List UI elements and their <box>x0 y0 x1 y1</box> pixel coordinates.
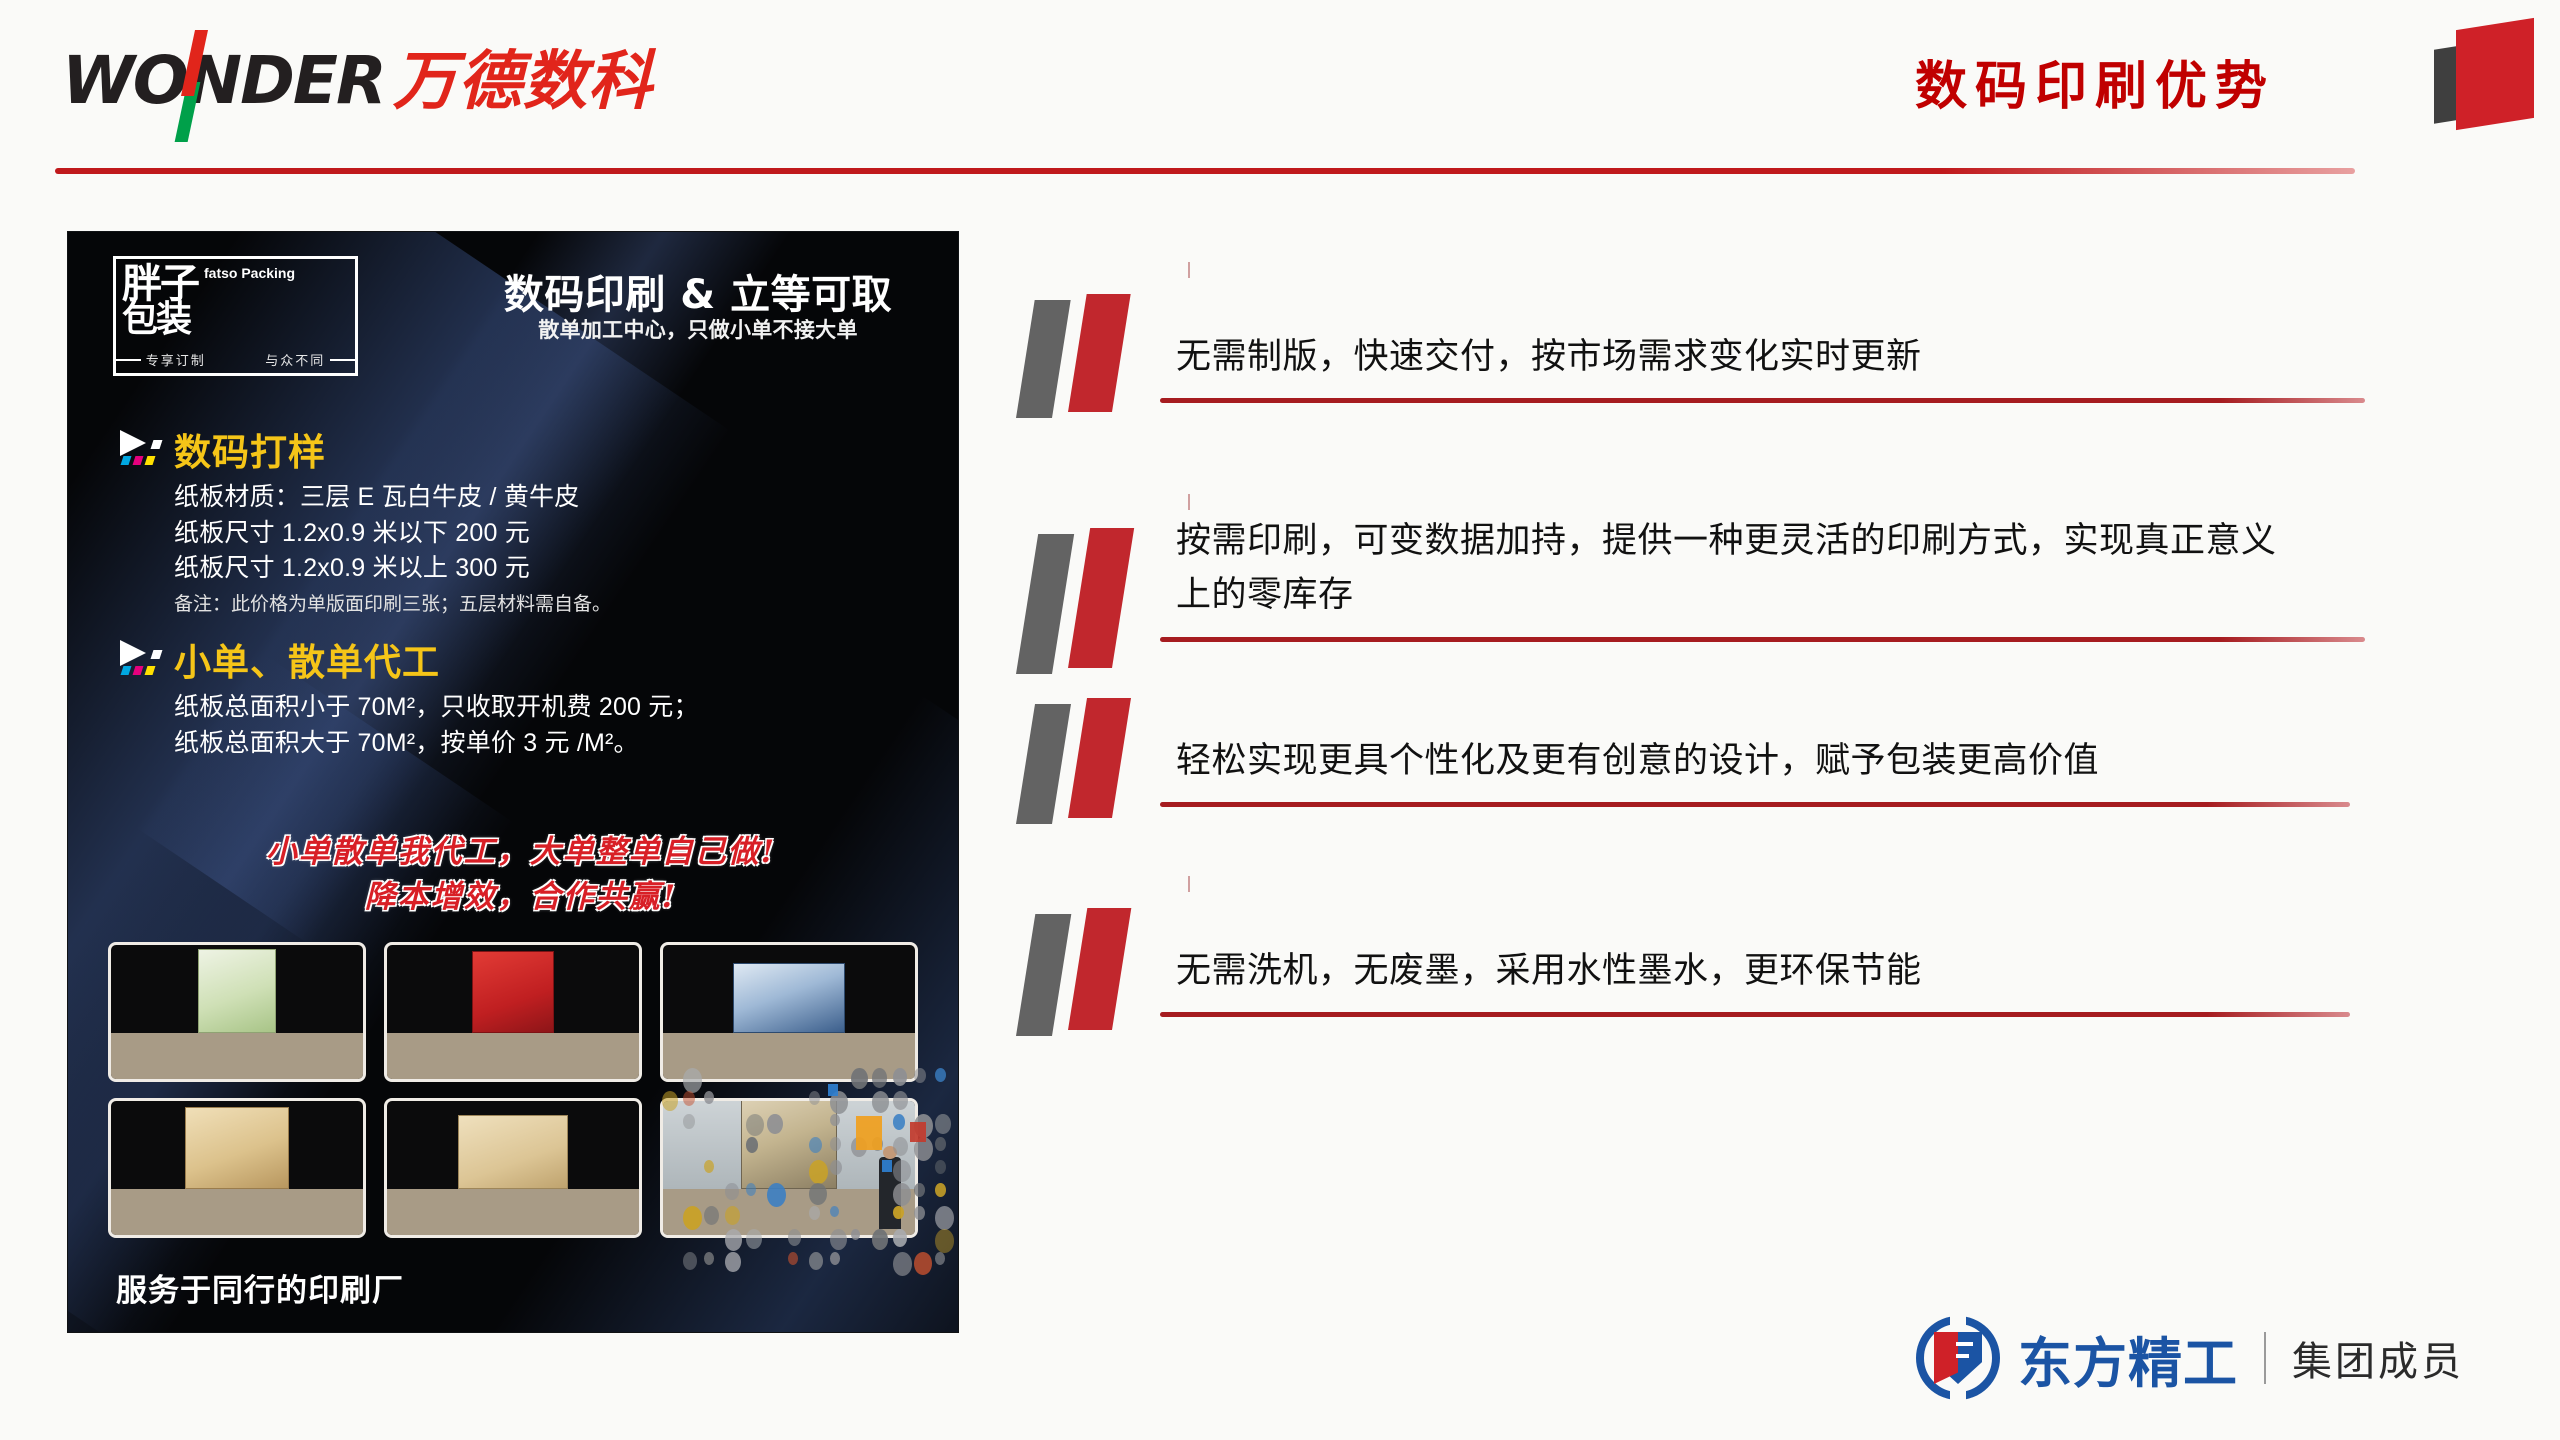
group-member-label: 集团成员 <box>2292 1329 2464 1387</box>
brand-logo: WONDER 万德数科 <box>62 48 653 114</box>
fatso-logo-cn2: 包装 <box>122 303 198 336</box>
page-title: 数码印刷优势 <box>1915 44 2275 119</box>
fatso-tagline-left: 专享订制 <box>146 350 206 369</box>
poster-slogan-line1: 小单散单我代工，大单整单自己做! <box>116 830 926 875</box>
dongfang-emblem-icon <box>1916 1316 2000 1400</box>
poster-section-oem: 小单、散单代工 纸板总面积小于 70M²，只收取开机费 200 元； 纸板总面积… <box>116 632 926 761</box>
header-divider <box>55 168 2355 174</box>
poster-dot <box>893 1252 912 1276</box>
advantage-text: 无需洗机，无废墨，采用水性墨水，更环保节能 <box>1176 944 2370 998</box>
poster-dot <box>788 1229 801 1246</box>
poster-dot <box>746 1114 764 1136</box>
poster-dot <box>893 1091 908 1110</box>
page-header: WONDER 万德数科 数码印刷优势 <box>0 0 2560 180</box>
poster-subheadline: 散单加工中心，只做小单不接大单 <box>463 314 933 344</box>
corner-decoration-icon <box>2428 6 2548 124</box>
poster-dot <box>851 1229 860 1240</box>
poster-dot <box>830 1206 839 1217</box>
poster-dot <box>851 1068 868 1089</box>
product-photo <box>108 1098 366 1238</box>
poster-dot <box>746 1183 756 1196</box>
poster-dot <box>935 1206 954 1230</box>
poster-dot <box>830 1252 840 1265</box>
poster-dot <box>935 1252 945 1265</box>
poster-section-line: 纸板总面积大于 70M²，按单价 3 元 /M²。 <box>174 726 926 762</box>
advantage-marker-icon <box>1010 528 1160 668</box>
product-photo <box>660 942 918 1082</box>
footer-divider <box>2264 1332 2266 1384</box>
promo-poster-image: 胖子 包装 fatso Packing 专享订制 与众不同 数码印刷 & 立等可… <box>68 232 958 1332</box>
poster-dot <box>893 1160 911 1182</box>
poster-dot <box>788 1252 798 1265</box>
poster-dot <box>893 1137 908 1156</box>
advantage-tick <box>1188 262 1190 278</box>
poster-dot <box>893 1206 904 1219</box>
poster-dot <box>830 1114 840 1126</box>
advantage-marker-icon <box>1010 294 1160 412</box>
poster-dot <box>914 1206 925 1220</box>
poster-dot-pattern <box>658 1064 958 1274</box>
poster-section-line: 纸板尺寸 1.2x0.9 米以下 200 元 <box>174 516 926 552</box>
arrow-bullet-icon <box>116 636 174 682</box>
poster-dot-accent <box>910 1122 926 1142</box>
advantage-item: 无需制版，快速交付，按市场需求变化实时更新 <box>1010 280 2370 430</box>
brand-chinese-name: 万德数科 <box>393 50 653 114</box>
poster-dot <box>935 1183 946 1197</box>
advantages-list: 无需制版，快速交付，按市场需求变化实时更新 按需印刷，可变数据加持，提供一种更灵… <box>1010 280 2370 1032</box>
poster-dot <box>725 1229 742 1251</box>
arrow-bullet-icon <box>116 426 174 472</box>
group-member-logo: 东方精工 集团成员 <box>1916 1316 2464 1400</box>
poster-slogan-line2: 降本增效，合作共赢! <box>116 875 926 920</box>
poster-dot-accent <box>856 1116 882 1150</box>
poster-dot <box>683 1206 702 1230</box>
poster-dot <box>662 1091 678 1111</box>
poster-dot <box>725 1183 739 1200</box>
advantage-text: 无需制版，快速交付，按市场需求变化实时更新 <box>1176 330 2370 384</box>
poster-dot <box>746 1137 758 1153</box>
poster-dot <box>725 1252 741 1272</box>
poster-dot <box>704 1252 714 1265</box>
advantage-underline <box>1160 1012 2350 1017</box>
fatso-packing-logo: 胖子 包装 fatso Packing 专享订制 与众不同 <box>113 256 358 376</box>
poster-section-line: 纸板总面积小于 70M²，只收取开机费 200 元； <box>174 690 926 726</box>
poster-dot <box>935 1160 946 1174</box>
advantage-marker-icon <box>1010 908 1160 1030</box>
poster-dot <box>767 1114 783 1134</box>
advantage-text: 按需印刷，可变数据加持，提供一种更灵活的印刷方式，实现真正意义上的零库存 <box>1176 514 2296 623</box>
advantage-item: 轻松实现更具个性化及更有创意的设计，赋予包装更高价值 <box>1010 680 2370 852</box>
wonder-wordmark: WONDER <box>62 48 385 114</box>
advantage-tick <box>1188 876 1190 892</box>
poster-section-title: 小单、散单代工 <box>174 632 440 686</box>
poster-dot <box>830 1229 847 1250</box>
poster-dot <box>809 1091 820 1105</box>
poster-dot <box>704 1160 714 1173</box>
advantage-underline <box>1160 637 2365 642</box>
advantage-tick <box>1188 494 1190 510</box>
poster-dot <box>704 1091 714 1104</box>
wonder-text: WONDER <box>62 42 385 119</box>
poster-dot <box>683 1091 695 1106</box>
poster-dot <box>809 1160 828 1184</box>
poster-dot <box>935 1068 946 1082</box>
poster-section-title: 数码打样 <box>174 422 326 476</box>
advantage-text: 轻松实现更具个性化及更有创意的设计，赋予包装更高价值 <box>1176 734 2370 788</box>
advantage-item: 按需印刷，可变数据加持，提供一种更灵活的印刷方式，实现真正意义上的零库存 <box>1010 430 2370 680</box>
poster-dot <box>809 1137 822 1153</box>
poster-dot <box>872 1068 887 1088</box>
poster-dot <box>914 1183 925 1197</box>
product-photo <box>108 942 366 1082</box>
poster-dot <box>809 1206 820 1220</box>
poster-dot <box>683 1252 697 1270</box>
poster-section-line: 纸板材质：三层 E 瓦白牛皮 / 黄牛皮 <box>174 480 926 516</box>
product-photo <box>384 1098 642 1238</box>
poster-footer-text: 服务于同行的印刷厂 <box>116 1265 404 1310</box>
poster-section-proofing: 数码打样 纸板材质：三层 E 瓦白牛皮 / 黄牛皮 纸板尺寸 1.2x0.9 米… <box>116 422 926 619</box>
advantage-marker-icon <box>1010 698 1160 818</box>
poster-dot <box>830 1160 842 1175</box>
fatso-tagline-right: 与众不同 <box>265 350 325 369</box>
poster-dot <box>809 1183 827 1205</box>
poster-section-note: 备注：此价格为单版面印刷三张；五层材料需自备。 <box>174 591 926 620</box>
corner-dark-shape <box>2434 46 2456 123</box>
poster-dot <box>893 1114 905 1130</box>
poster-dot <box>935 1229 954 1253</box>
poster-dot <box>746 1229 762 1249</box>
product-photo <box>384 942 642 1082</box>
poster-calligraphy-slogan: 小单散单我代工，大单整单自己做! 降本增效，合作共赢! <box>116 830 926 920</box>
poster-dot <box>914 1252 932 1275</box>
poster-dot <box>704 1206 719 1225</box>
fatso-logo-chinese: 胖子 包装 <box>122 266 198 336</box>
poster-dot <box>725 1206 740 1225</box>
fatso-logo-english: fatso Packing <box>204 265 295 281</box>
poster-dot <box>809 1252 823 1270</box>
poster-dot <box>683 1114 695 1129</box>
poster-headline: 数码印刷 & 立等可取 <box>463 262 933 320</box>
poster-dot <box>872 1229 888 1250</box>
poster-dot <box>767 1183 786 1207</box>
corner-red-shape <box>2456 18 2534 130</box>
poster-dot <box>935 1137 946 1151</box>
poster-dot <box>683 1068 702 1093</box>
poster-dot <box>893 1068 907 1086</box>
advantage-underline <box>1160 802 2350 807</box>
poster-dot <box>914 1068 926 1083</box>
poster-dot <box>872 1091 889 1113</box>
poster-dot-accent <box>882 1160 892 1172</box>
dongfang-name: 东方精工 <box>2018 1319 2238 1398</box>
poster-section-line: 纸板尺寸 1.2x0.9 米以上 300 元 <box>174 551 926 587</box>
poster-dot <box>935 1114 951 1134</box>
advantage-underline <box>1160 398 2365 403</box>
poster-dot <box>893 1183 911 1206</box>
advantage-item: 无需洗机，无废墨，采用水性墨水，更环保节能 <box>1010 852 2370 1032</box>
poster-dot-accent <box>828 1084 838 1096</box>
poster-dot <box>893 1229 907 1247</box>
poster-dot <box>830 1137 841 1151</box>
